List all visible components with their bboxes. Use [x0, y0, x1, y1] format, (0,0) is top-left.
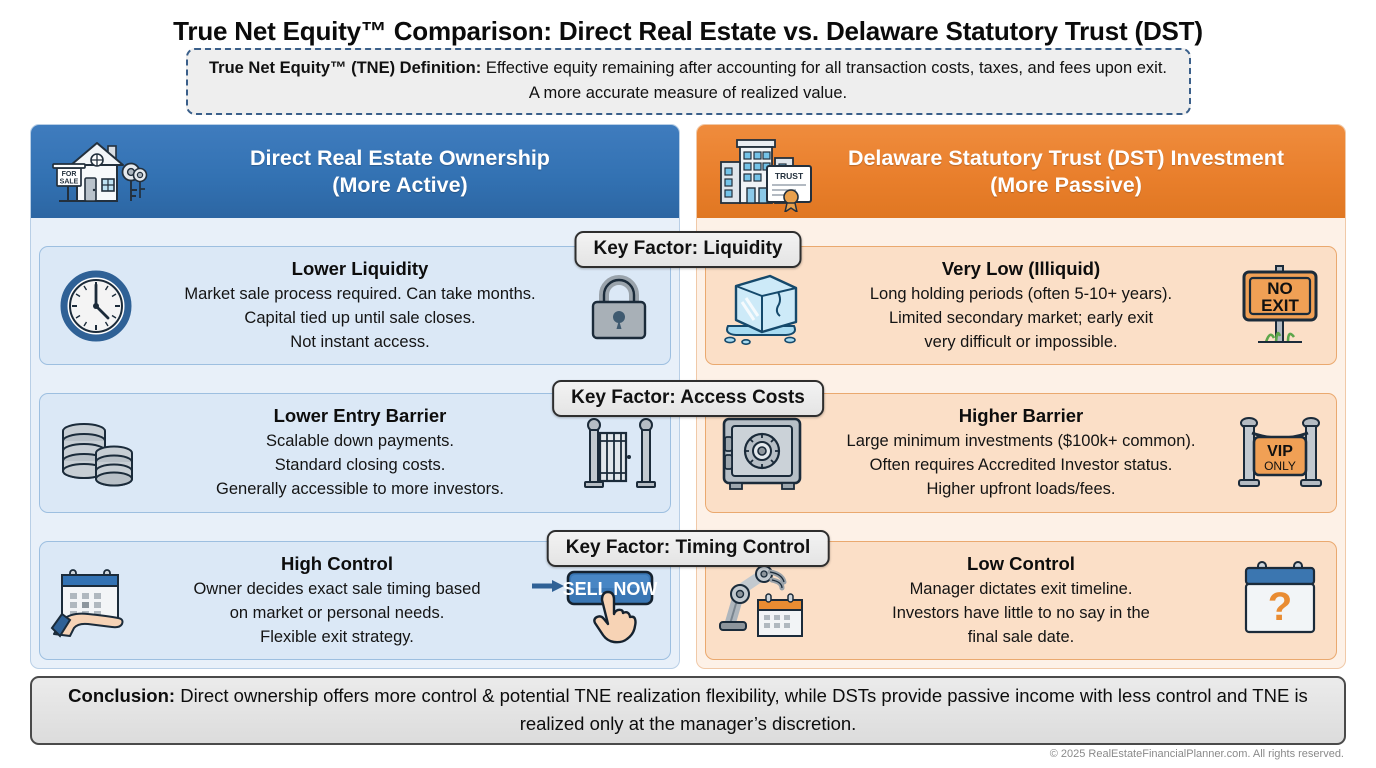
column-title-direct-line1: Direct Real Estate Ownership [153, 145, 647, 172]
left-cards: Lower Liquidity Market sale process requ… [31, 218, 679, 668]
infographic-page: True Net Equity™ Comparison: Direct Real… [0, 0, 1376, 768]
sell-now-button-icon[interactable]: SELL NOW [530, 556, 662, 644]
card-heading: Lower Entry Barrier [146, 404, 574, 428]
card-line: final sale date. [812, 625, 1230, 649]
house-for-sale-keys-icon: FOR SALE [45, 132, 153, 212]
right-cards: Very Low (Illiquid) Long holding periods… [697, 218, 1345, 668]
question-calendar-icon: ? [1232, 556, 1328, 644]
column-title-dst: Delaware Statutory Trust (DST) Investmen… [819, 145, 1331, 199]
card-text-timing-right: Low Control Manager dictates exit timeli… [810, 552, 1232, 649]
definition-text: Effective equity remaining after account… [481, 59, 1167, 102]
card-line: Limited secondary market; early exit [812, 306, 1230, 330]
card-line: Investors have little to no say in the [812, 601, 1230, 625]
svg-text:VIP: VIP [1267, 443, 1293, 460]
svg-text:SALE: SALE [60, 178, 79, 185]
card-line: Not instant access. [146, 330, 574, 354]
svg-text:EXIT: EXIT [1261, 296, 1299, 315]
melting-ice-cube-icon [714, 262, 810, 350]
no-exit-sign-icon: NO EXIT [1232, 262, 1328, 350]
card-line: Generally accessible to more investors. [146, 477, 574, 501]
card-text-liquidity-right: Very Low (Illiquid) Long holding periods… [810, 257, 1232, 354]
safe-vault-icon [714, 409, 810, 497]
card-heading: Lower Liquidity [146, 257, 574, 281]
card-text-liquidity-left: Lower Liquidity Market sale process requ… [144, 257, 576, 354]
open-gate-icon [576, 409, 662, 497]
column-header-direct: FOR SALE Direct Real Estate Owne [31, 125, 679, 218]
page-title: True Net Equity™ Comparison: Direct Real… [0, 0, 1376, 48]
card-line: Higher upfront loads/fees. [812, 477, 1230, 501]
vip-only-rope-sign-icon: VIP ONLY [1232, 409, 1328, 497]
card-heading: Very Low (Illiquid) [812, 257, 1230, 281]
card-line: very difficult or impossible. [812, 330, 1230, 354]
card-text-access-right: Higher Barrier Large minimum investments… [810, 404, 1232, 501]
tne-definition-box: True Net Equity™ (TNE) Definition: Effec… [186, 48, 1191, 115]
padlock-icon [576, 262, 662, 350]
key-factor-pill-liquidity: Key Factor: Liquidity [575, 231, 802, 268]
card-text-timing-left: High Control Owner decides exact sale ti… [144, 552, 530, 649]
comparison-grid: FOR SALE Direct Real Estate Owne [30, 124, 1346, 669]
calendar-in-hand-icon [48, 556, 144, 644]
question-mark-glyph: ? [1268, 585, 1292, 629]
card-line: Scalable down payments. [146, 429, 574, 453]
svg-text:ONLY: ONLY [1264, 459, 1296, 473]
card-heading: High Control [146, 552, 528, 576]
conclusion-box: Conclusion: Direct ownership offers more… [30, 676, 1346, 745]
definition-section: True Net Equity™ (TNE) Definition: Effec… [0, 48, 1376, 115]
robot-arm-calendar-icon [714, 556, 810, 644]
copyright-footer: © 2025 RealEstateFinancialPlanner.com. A… [0, 745, 1376, 760]
key-factor-pill-access-costs: Key Factor: Access Costs [552, 380, 824, 417]
card-line: Long holding periods (often 5-10+ years)… [812, 282, 1230, 306]
column-title-dst-line2: (More Passive) [819, 172, 1313, 199]
card-line: Often requires Accredited Investor statu… [812, 453, 1230, 477]
card-heading: Low Control [812, 552, 1230, 576]
column-title-direct-line2: (More Active) [153, 172, 647, 199]
card-text-access-left: Lower Entry Barrier Scalable down paymen… [144, 404, 576, 501]
card-line: Market sale process required. Can take m… [146, 282, 574, 306]
key-factor-pill-timing-control: Key Factor: Timing Control [547, 530, 830, 567]
card-line: Standard closing costs. [146, 453, 574, 477]
office-building-trust-certificate-icon: TRUST [711, 132, 819, 212]
conclusion-text: Direct ownership offers more control & p… [175, 685, 1308, 734]
card-heading: Higher Barrier [812, 404, 1230, 428]
definition-label: True Net Equity™ (TNE) Definition: [209, 59, 481, 77]
svg-text:FOR: FOR [62, 171, 77, 178]
svg-text:TRUST: TRUST [775, 171, 804, 181]
conclusion-label: Conclusion: [68, 685, 175, 706]
card-line: Manager dictates exit timeline. [812, 577, 1230, 601]
card-line: on market or personal needs. [146, 601, 528, 625]
card-line: Large minimum investments ($100k+ common… [812, 429, 1230, 453]
column-title-direct: Direct Real Estate Ownership (More Activ… [153, 145, 665, 199]
card-line: Owner decides exact sale timing based [146, 577, 528, 601]
coin-stacks-icon [48, 409, 144, 497]
column-header-dst: TRUST Delaware Statutory Trust (DST) Inv… [697, 125, 1345, 218]
column-title-dst-line1: Delaware Statutory Trust (DST) Investmen… [819, 145, 1313, 172]
card-line: Capital tied up until sale closes. [146, 306, 574, 330]
clock-icon [48, 262, 144, 350]
card-line: Flexible exit strategy. [146, 625, 528, 649]
